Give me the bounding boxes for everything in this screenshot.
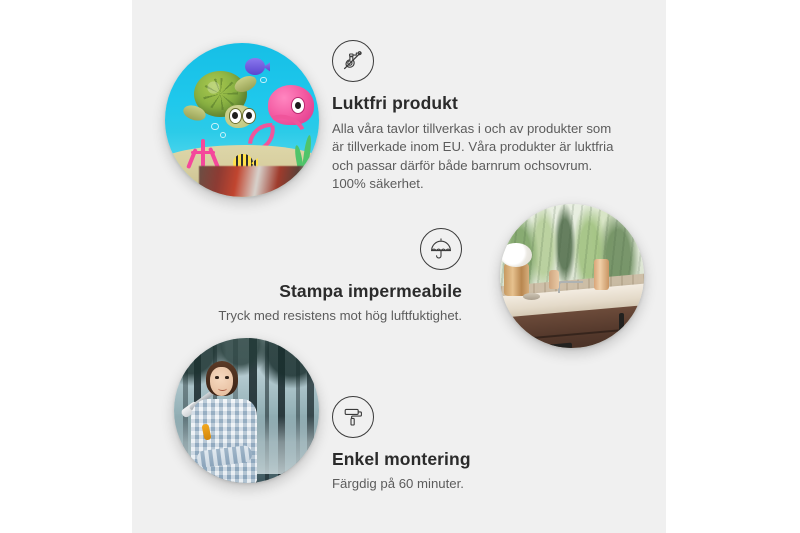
feature-title: Luktfri produkt: [332, 92, 632, 114]
paint-roller-icon: [332, 396, 374, 438]
umbrella-icon: [420, 228, 462, 270]
feature-title: Stampa impermeabile: [217, 280, 462, 302]
photo-bathroom-art: [500, 204, 644, 348]
photo-forest-painter: [174, 338, 319, 483]
content-panel: Luktfri produkt Alla våra tavlor tillver…: [132, 0, 666, 533]
photo-underwater-art: [165, 43, 319, 197]
photo-bathroom: [500, 204, 644, 348]
photo-forest-painter-art: [174, 338, 319, 483]
photo-underwater: [165, 43, 319, 197]
feature-body: Alla våra tavlor tillverkas i och av pro…: [332, 120, 617, 194]
feature-waterproof: Stampa impermeabile Tryck med resistens …: [217, 228, 462, 325]
feature-body: Färgdig på 60 minuter.: [332, 475, 612, 493]
product-feature-graphic: Luktfri produkt Alla våra tavlor tillver…: [0, 0, 800, 533]
feature-easy-mounting: Enkel montering Färgdig på 60 minuter.: [332, 396, 612, 493]
feature-odourless: Luktfri produkt Alla våra tavlor tillver…: [332, 40, 632, 194]
no-fragrance-icon: [332, 40, 374, 82]
feature-title: Enkel montering: [332, 448, 612, 470]
feature-body: Tryck med resistens mot hög luftfuktighe…: [217, 307, 462, 325]
